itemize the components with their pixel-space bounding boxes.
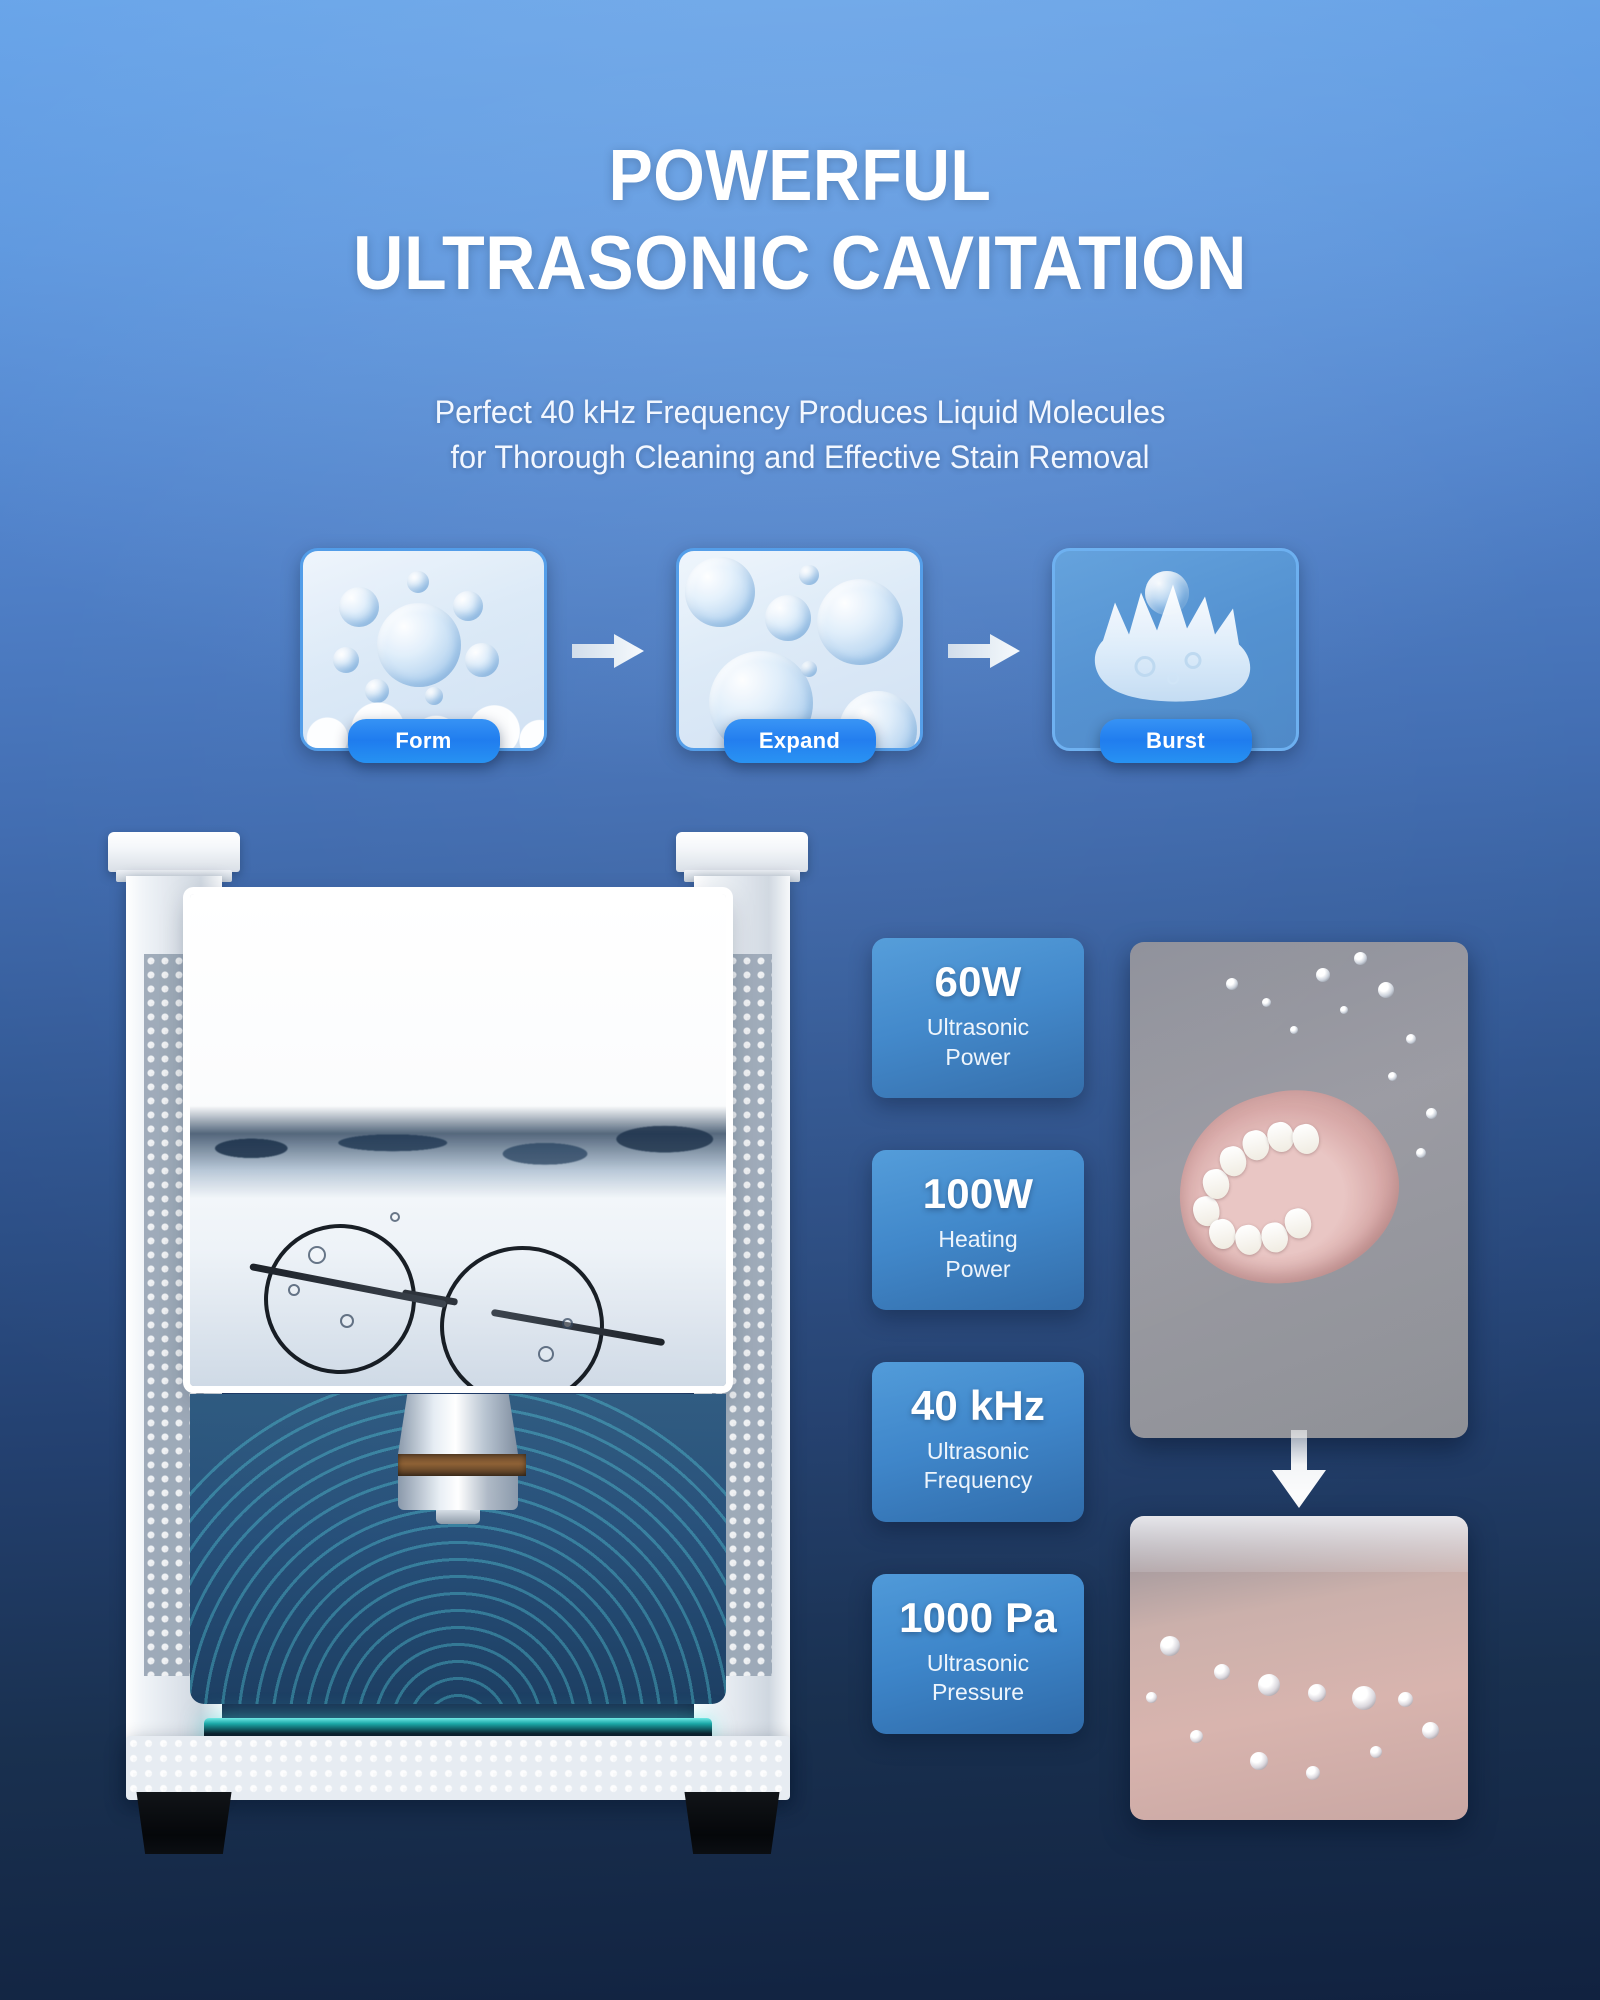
- arrow-right-icon: [572, 634, 644, 668]
- spec-value: 60W: [882, 960, 1074, 1004]
- denture-closeup-bubbles-photo: [1130, 1516, 1468, 1820]
- eyeglasses-lens-right: [432, 1238, 612, 1386]
- title-line-1: POWERFUL: [64, 140, 1536, 212]
- page-title: POWERFUL ULTRASONIC CAVITATION: [0, 140, 1600, 302]
- arrow-down-icon: [1272, 1430, 1326, 1508]
- step-label-form: Form: [348, 719, 500, 763]
- machine-foot-right: [678, 1792, 786, 1854]
- subtitle-line-2: for Thorough Cleaning and Effective Stai…: [32, 435, 1568, 480]
- cavitation-step-row: Form Expand: [0, 548, 1600, 768]
- foam-layer: [1130, 1516, 1468, 1572]
- spec-card-ultrasonic-power: 60W Ultrasonic Power: [872, 938, 1084, 1098]
- tank-lip-left: [108, 832, 240, 872]
- spec-label-line-2: Frequency: [882, 1466, 1074, 1495]
- spec-card-ultrasonic-pressure: 1000 Pa Ultrasonic Pressure: [872, 1574, 1084, 1734]
- arrow-right-icon: [948, 634, 1020, 668]
- tank-lip-right: [676, 832, 808, 872]
- machine-foot-left: [130, 1792, 238, 1854]
- transducer-chamber: [190, 1394, 726, 1704]
- water-splash-icon: [1081, 574, 1271, 709]
- spec-label: Ultrasonic Frequency: [882, 1437, 1074, 1496]
- spec-card-heating-power: 100W Heating Power: [872, 1150, 1084, 1310]
- title-line-2: ULTRASONIC CAVITATION: [64, 226, 1536, 302]
- spec-label-line-2: Power: [882, 1255, 1074, 1284]
- ultrasonic-transducer-icon: [398, 1394, 518, 1524]
- spec-label-line-2: Power: [882, 1043, 1074, 1072]
- water-surface-icon: [190, 1106, 726, 1198]
- spec-label-line-1: Ultrasonic: [882, 1013, 1074, 1042]
- subtitle-line-1: Perfect 40 kHz Frequency Produces Liquid…: [32, 390, 1568, 435]
- cavitation-step-burst: Burst: [1052, 548, 1299, 751]
- spec-card-list: 60W Ultrasonic Power 100W Heating Power …: [872, 938, 1084, 1786]
- step-label-burst: Burst: [1100, 719, 1252, 763]
- spec-value: 40 kHz: [882, 1384, 1074, 1428]
- spec-label: Heating Power: [882, 1225, 1074, 1284]
- spec-label: Ultrasonic Pressure: [882, 1649, 1074, 1708]
- spec-label-line-1: Ultrasonic: [882, 1437, 1074, 1466]
- spec-label: Ultrasonic Power: [882, 1013, 1074, 1072]
- spec-card-ultrasonic-frequency: 40 kHz Ultrasonic Frequency: [872, 1362, 1084, 1522]
- cavitation-step-form: Form: [300, 548, 547, 751]
- infographic-canvas: POWERFUL ULTRASONIC CAVITATION Perfect 4…: [0, 0, 1600, 2000]
- spec-label-line-1: Ultrasonic: [882, 1649, 1074, 1678]
- machine-base-panel: [126, 1736, 790, 1800]
- spec-label-line-2: Pressure: [882, 1678, 1074, 1707]
- step-label-expand: Expand: [724, 719, 876, 763]
- spec-label-line-1: Heating: [882, 1225, 1074, 1254]
- spec-value: 100W: [882, 1172, 1074, 1216]
- cleaning-tank-basin: [190, 894, 726, 1386]
- subtitle: Perfect 40 kHz Frequency Produces Liquid…: [32, 390, 1568, 481]
- spec-value: 1000 Pa: [882, 1596, 1074, 1640]
- ultrasonic-cleaner-illustration: [108, 832, 808, 1852]
- cavitation-step-expand: Expand: [676, 548, 923, 751]
- denture-in-water-photo: [1130, 942, 1468, 1438]
